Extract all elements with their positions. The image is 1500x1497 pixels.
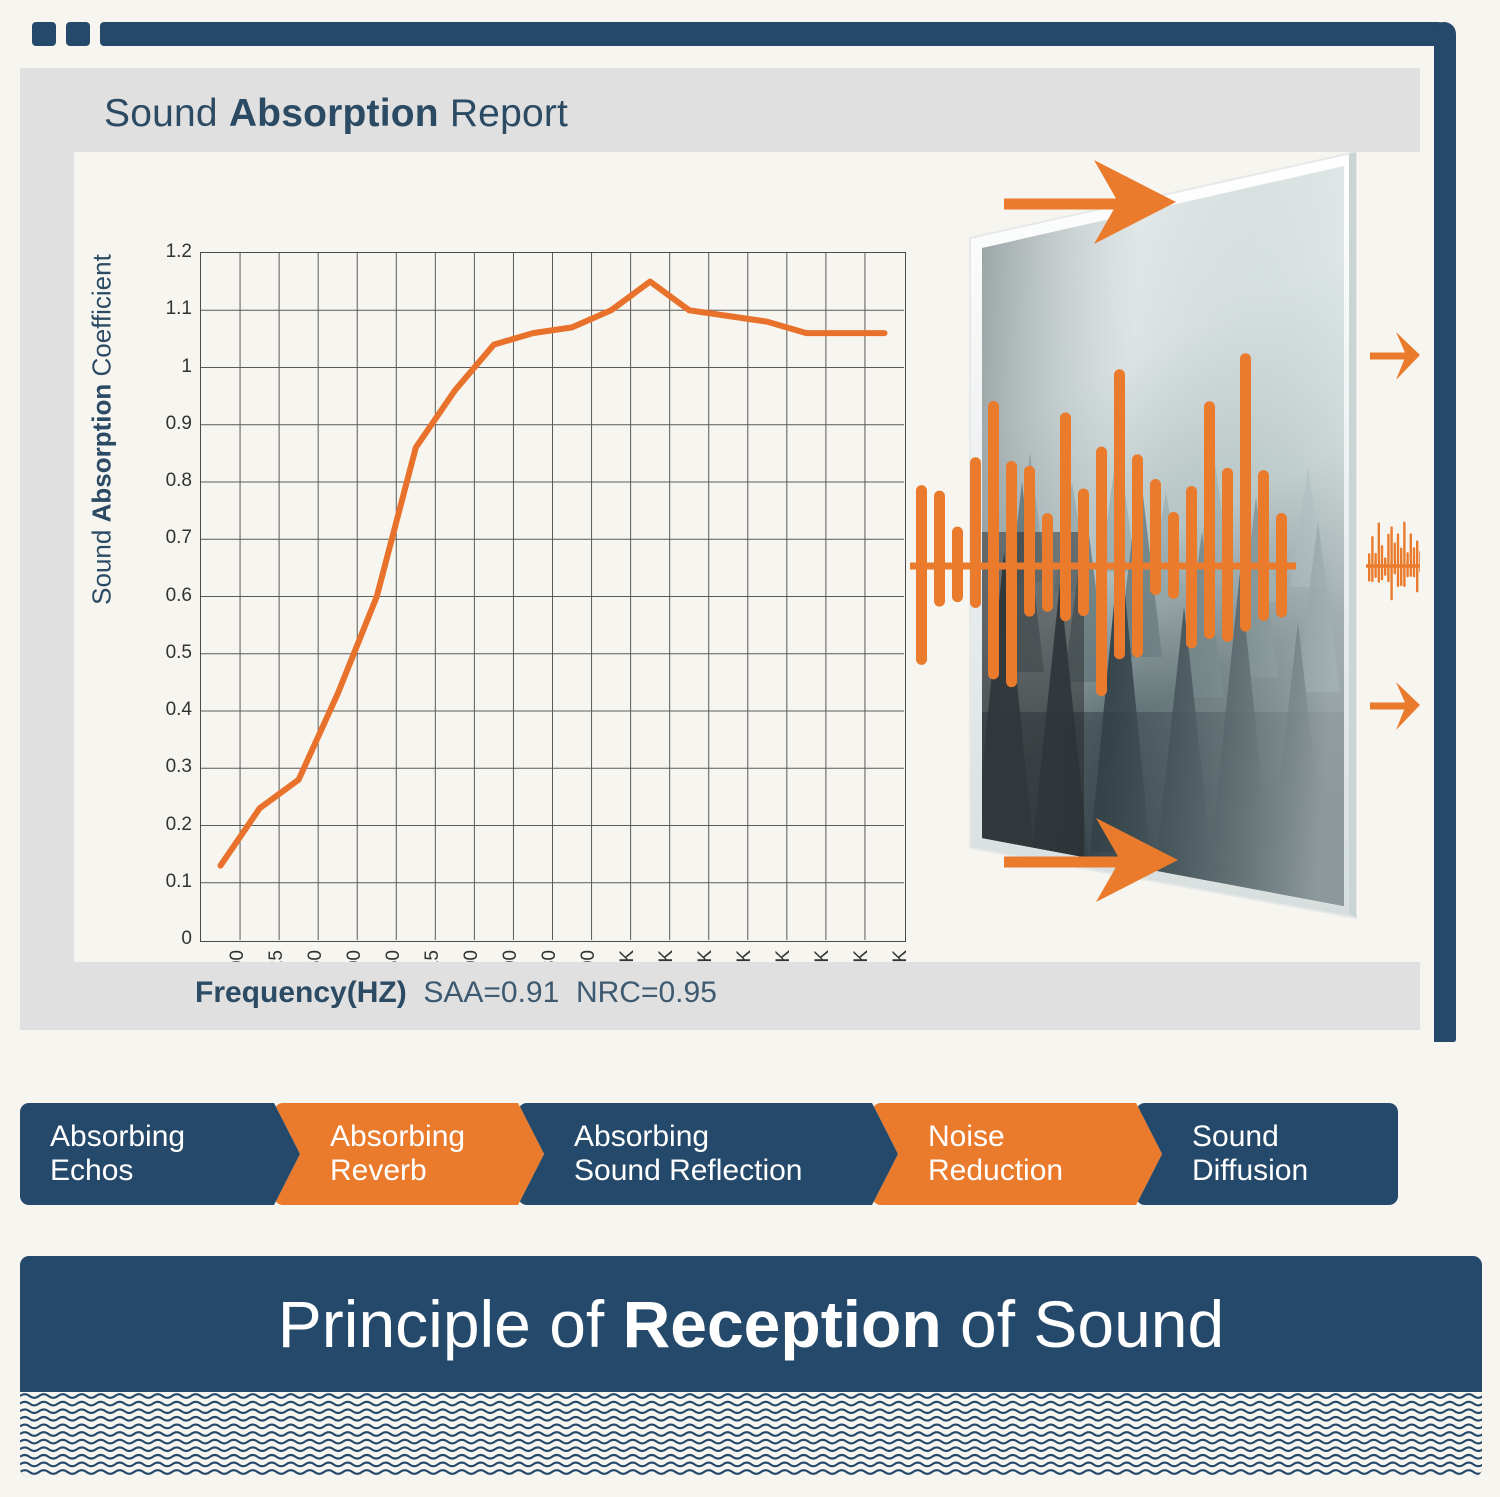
decor-inner-patch [1420, 46, 1434, 1046]
chart-y-tick: 0.6 [166, 585, 192, 607]
decor-top-bar [100, 22, 1456, 46]
chart-y-tick: 0.5 [166, 642, 192, 664]
ylabel-suffix: Coefficient [87, 254, 117, 384]
footer-frequency-label: Frequency(HZ) [195, 976, 407, 1009]
sound-absorption-report-panel: Sound Absorption Report Sound Absorption… [20, 68, 1420, 1030]
benefit-tag-strip: AbsorbingEchosAbsorbingReverbAbsorbingSo… [20, 1103, 1482, 1205]
acoustic-panel-illustration [904, 152, 1420, 962]
report-footer-text: Frequency(HZ) SAA=0.91 NRC=0.95 [195, 976, 717, 1010]
chart-plot-region [200, 252, 906, 942]
benefit-tag[interactable]: NoiseReduction [872, 1103, 1162, 1205]
banner-bold: Reception [623, 1287, 942, 1361]
benefit-tag-line2: Sound Reflection [574, 1154, 803, 1188]
benefit-tag-line1: Absorbing [574, 1120, 803, 1154]
transmitted-sound-arrow-upper [1370, 332, 1420, 380]
chart-y-tick: 0 [181, 928, 192, 950]
benefit-tag-line1: Absorbing [50, 1120, 185, 1154]
chart-y-tick: 0.8 [166, 470, 192, 492]
benefit-tag-line2: Diffusion [1192, 1154, 1308, 1188]
banner-title: Principle of Reception of Sound [20, 1286, 1482, 1362]
benefit-tag-line1: Absorbing [330, 1120, 465, 1154]
decor-square-1 [32, 22, 56, 46]
absorption-line-chart: Sound Absorption Coefficient 1.21.110.90… [74, 152, 894, 962]
transmitted-sound-arrow-lower [1370, 682, 1420, 730]
report-title-bold: Absorption [229, 92, 439, 135]
chart-svg [201, 253, 904, 940]
banner-suffix: of Sound [942, 1287, 1225, 1361]
benefit-tag-line1: Noise [928, 1120, 1063, 1154]
chart-y-tick: 0.1 [166, 871, 192, 893]
benefit-tag-line1: Sound [1192, 1120, 1308, 1154]
footer-nrc-value: NRC=0.95 [576, 976, 717, 1009]
panel-scene-svg [904, 152, 1420, 962]
footer-saa-value: SAA=0.91 [423, 976, 559, 1009]
benefit-tag[interactable]: AbsorbingReverb [274, 1103, 544, 1205]
decor-right-rail [1432, 22, 1456, 1042]
acoustic-mesh-pattern [20, 1392, 1482, 1477]
bottom-title-banner: Principle of Reception of Sound [20, 1256, 1482, 1477]
poster-card: Sound Absorption Report Sound Absorption… [0, 0, 1500, 1497]
benefit-tag-label: AbsorbingSound Reflection [574, 1120, 803, 1187]
report-title-prefix: Sound [104, 92, 229, 135]
chart-y-axis-ticks: 1.21.110.90.80.70.60.50.40.30.20.10 [146, 252, 192, 942]
chart-y-tick: 0.3 [166, 756, 192, 778]
report-footer: Frequency(HZ) SAA=0.91 NRC=0.95 [20, 962, 1420, 1030]
benefit-tag-label: NoiseReduction [928, 1120, 1063, 1187]
ylabel-bold: Absorption [87, 384, 117, 523]
benefit-tag-line2: Reverb [330, 1154, 465, 1188]
chart-y-tick: 0.7 [166, 527, 192, 549]
benefit-tag[interactable]: AbsorbingEchos [20, 1103, 300, 1205]
chart-y-tick: 0.2 [166, 814, 192, 836]
benefit-tag[interactable]: SoundDiffusion [1136, 1103, 1398, 1205]
benefit-tag-label: AbsorbingEchos [50, 1120, 185, 1187]
benefit-tag-label: AbsorbingReverb [330, 1120, 465, 1187]
benefit-tag-label: SoundDiffusion [1192, 1120, 1308, 1187]
ylabel-prefix: Sound [87, 522, 117, 604]
benefit-tag[interactable]: AbsorbingSound Reflection [518, 1103, 898, 1205]
banner-prefix: Principle of [278, 1287, 623, 1361]
chart-y-tick: 1.1 [166, 298, 192, 320]
chart-y-tick: 0.9 [166, 413, 192, 435]
report-title-suffix: Report [439, 92, 568, 135]
benefit-tag-line2: Reduction [928, 1154, 1063, 1188]
benefit-tag-line2: Echos [50, 1154, 185, 1188]
report-title: Sound Absorption Report [104, 92, 568, 136]
chart-area: Sound Absorption Coefficient 1.21.110.90… [74, 152, 1420, 962]
chart-y-tick: 1 [181, 356, 192, 378]
decor-square-2 [66, 22, 90, 46]
chart-y-axis-label: Sound Absorption Coefficient [87, 150, 118, 710]
chart-y-tick: 0.4 [166, 699, 192, 721]
chart-y-tick: 1.2 [166, 241, 192, 263]
waveform-small [1368, 522, 1420, 601]
